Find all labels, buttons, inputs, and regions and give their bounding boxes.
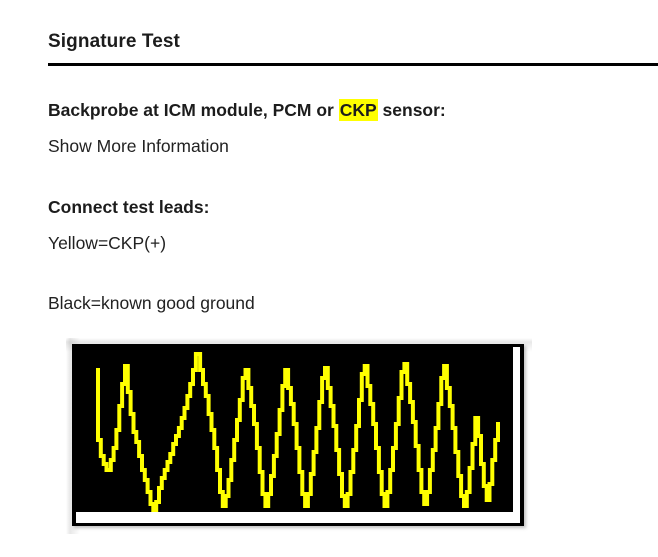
document-page: Signature Test Backprobe at ICM module, … (0, 0, 658, 557)
ckp-highlight: CKP (339, 99, 378, 121)
show-more-information-link[interactable]: Show More Information (48, 136, 229, 157)
connect-test-leads-heading: Connect test leads: (48, 197, 209, 218)
waveform-trace (72, 344, 524, 526)
lead-black-label: Black=known good ground (48, 293, 255, 314)
backprobe-instruction: Backprobe at ICM module, PCM or CKP sens… (48, 100, 446, 121)
waveform-figure (66, 338, 532, 534)
page-title: Signature Test (48, 31, 180, 53)
screen-right-bar (513, 347, 520, 523)
oscilloscope-frame (72, 344, 524, 526)
backprobe-suffix: sensor: (378, 100, 446, 120)
lead-yellow-label: Yellow=CKP(+) (48, 233, 166, 254)
backprobe-prefix: Backprobe at ICM module, PCM or (48, 100, 339, 120)
screen-bottom-bar (76, 512, 520, 523)
title-divider (48, 63, 658, 66)
